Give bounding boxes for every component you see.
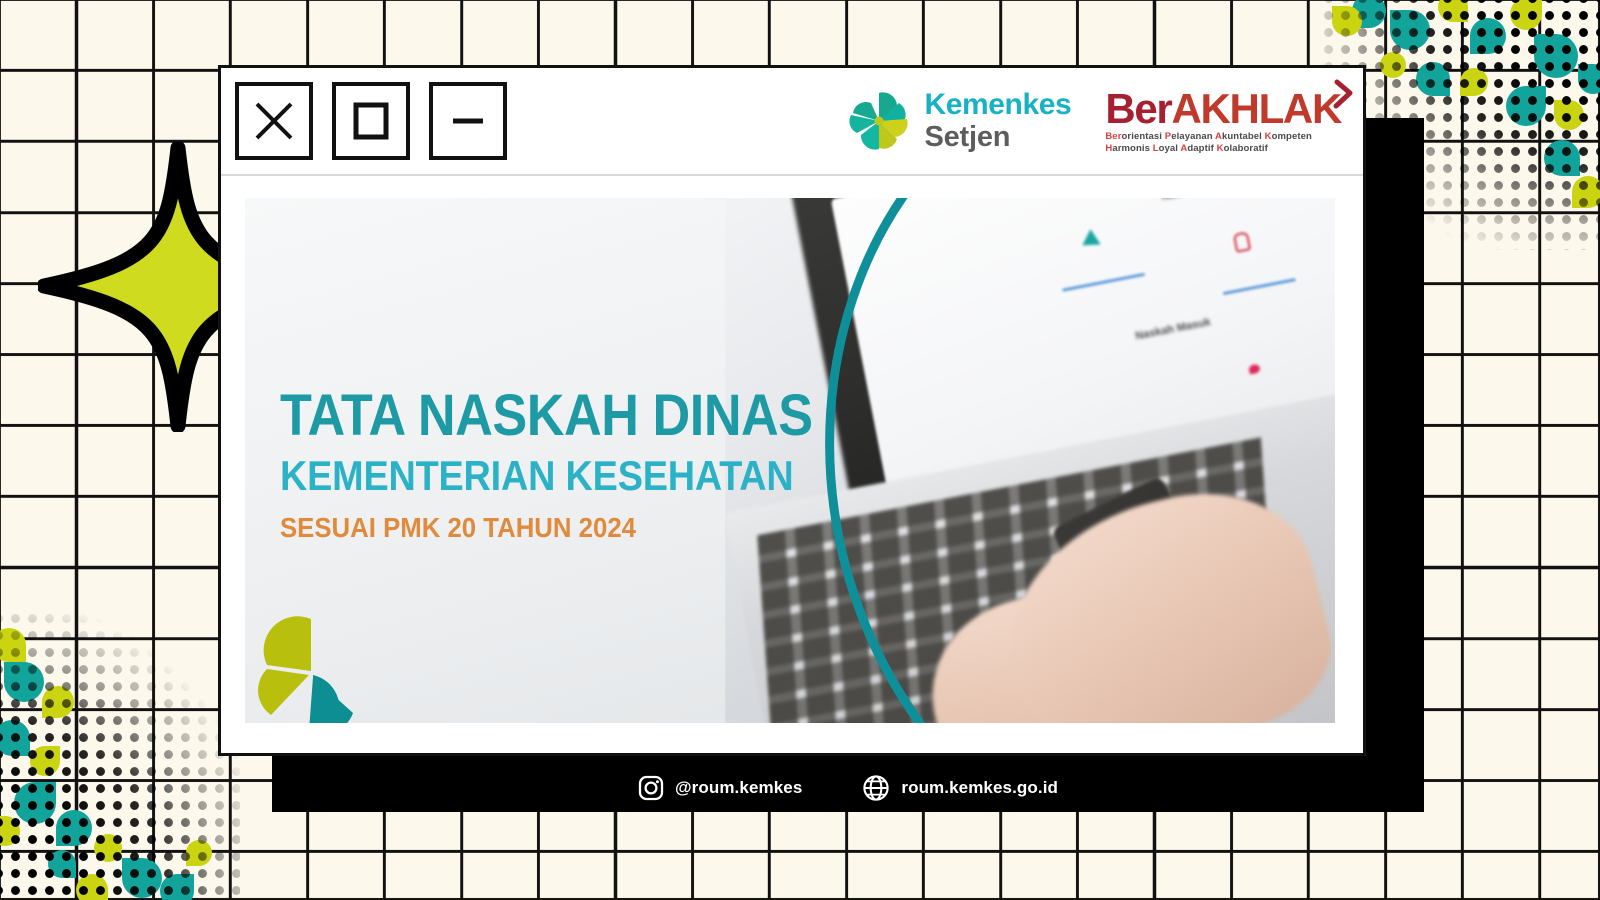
kemenkes-logo-lockup: Kemenkes Setjen [845,89,1071,153]
slide-title: TATA NASKAH DINAS [280,387,813,445]
instagram-icon [638,775,664,801]
screen-canvas: Kemenkes Setjen BerAKHLAK Berorientasi P… [0,0,1600,900]
globe-icon [862,774,890,802]
slide-subtitle: KEMENTERIAN KESEHATAN [280,455,813,497]
berakhlak-tagline-line-2: Harmonis Loyal Adaptif Kolaboratif [1105,143,1312,155]
minimize-button[interactable] [429,82,507,160]
screen-divider [1062,272,1145,291]
kemenkes-subtitle: Setjen [924,123,1071,152]
slide-text-block: TATA NASKAH DINAS KEMENTERIAN KESEHATAN … [280,387,872,542]
screen-divider [1223,278,1296,295]
kemenkes-clover-motif [249,613,379,723]
screen-pin-icon [1233,231,1251,253]
close-button[interactable] [235,82,313,160]
maximize-square-icon [349,99,393,143]
close-x-icon [252,99,296,143]
instagram-handle: @roum.kemkes [675,778,802,798]
maximize-button[interactable] [332,82,410,160]
berakhlak-suffix: AKHLAK [1171,85,1341,132]
berakhlak-tagline: Berorientasi Pelayanan Akuntabel Kompete… [1105,131,1312,154]
application-window: Kemenkes Setjen BerAKHLAK Berorientasi P… [218,65,1366,756]
footer-social-bar: @roum.kemkes roum.kemkes.go.id [272,764,1424,812]
slide-container: Naskah Keluar Naskah Masuk [221,176,1363,753]
berakhlak-logo-lockup: BerAKHLAK Berorientasi Pelayanan Akuntab… [1105,88,1341,154]
brand-lockups: Kemenkes Setjen BerAKHLAK Berorientasi P… [845,88,1341,154]
berakhlak-wordmark: BerAKHLAK [1105,88,1341,129]
screen-label: Naskah Masuk [1134,316,1211,342]
kemenkes-wordmark: Kemenkes Setjen [924,90,1071,152]
screen-label: Naskah Keluar [1161,198,1238,203]
website-url: roum.kemkes.go.id [901,778,1058,798]
screen-send-icon [1083,229,1105,252]
window-controls [235,82,507,160]
kemenkes-title: Kemenkes [924,90,1071,120]
presentation-slide: Naskah Keluar Naskah Masuk [245,198,1335,723]
screen-accent-dot [1248,363,1261,374]
berakhlak-prefix: Ber [1105,85,1171,132]
slide-caption: SESUAI PMK 20 TAHUN 2024 [280,514,825,542]
footer-item-website[interactable]: roum.kemkes.go.id [862,774,1058,802]
berakhlak-tagline-line-1: Berorientasi Pelayanan Akuntabel Kompete… [1105,131,1312,143]
kemenkes-clover-logo [845,89,913,153]
window-titlebar: Kemenkes Setjen BerAKHLAK Berorientasi P… [221,68,1363,176]
chevron-right-icon [1331,79,1357,109]
footer-item-instagram[interactable]: @roum.kemkes [638,775,802,801]
minimize-dash-icon [446,99,490,143]
